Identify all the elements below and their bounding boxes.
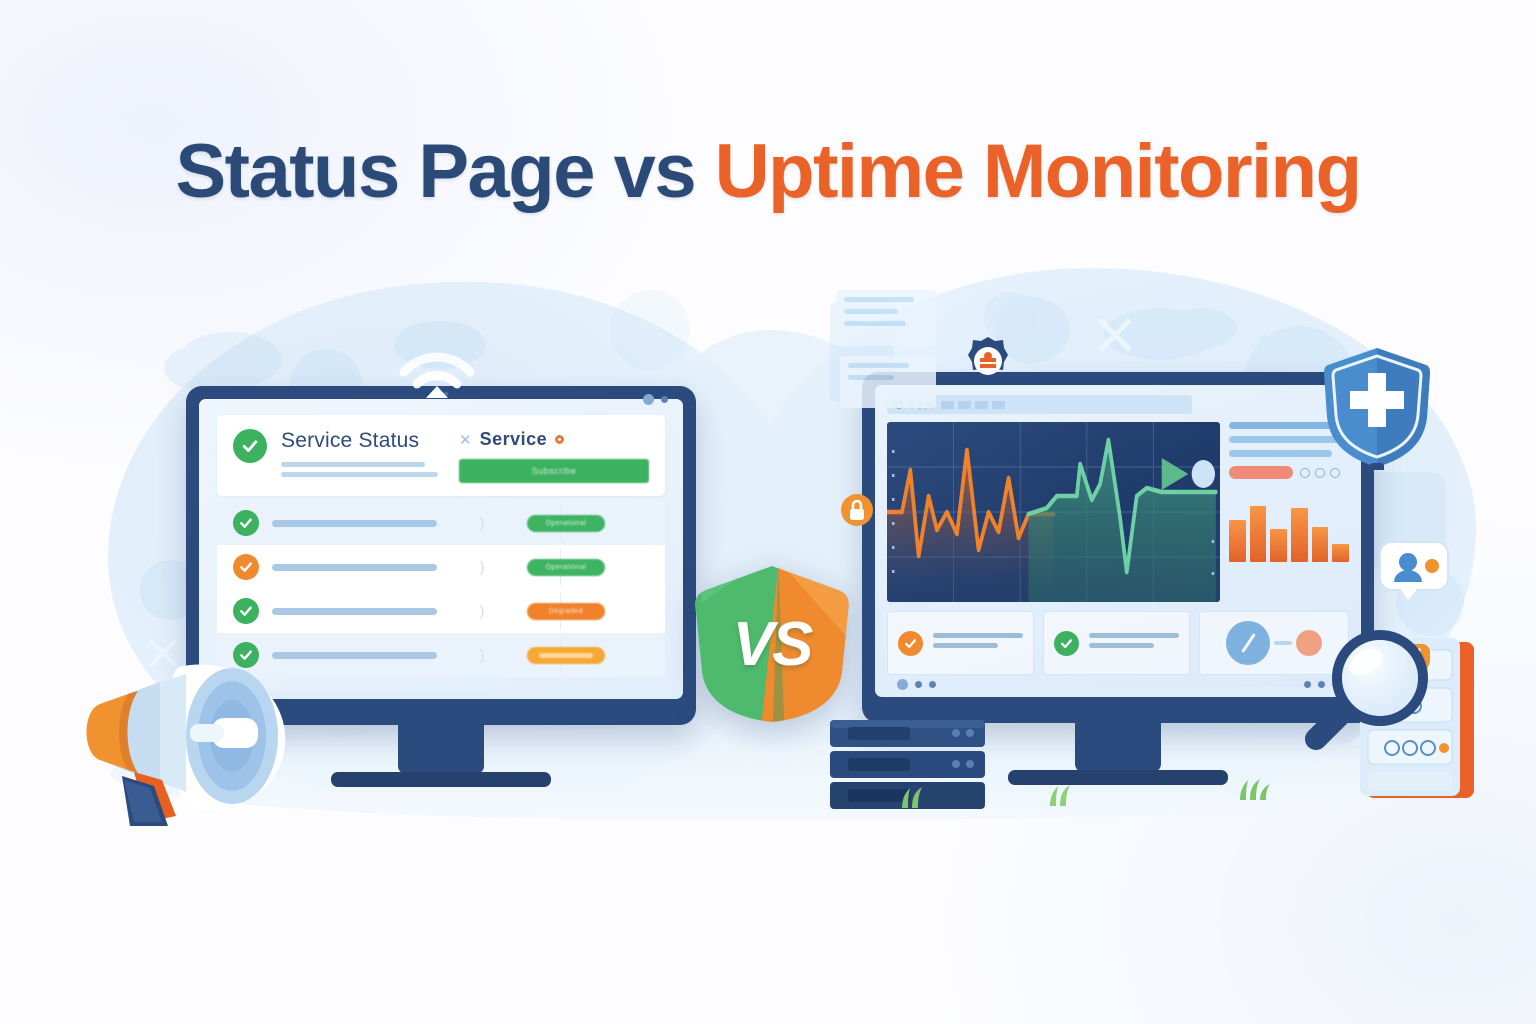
placeholder-line: [281, 472, 438, 477]
check-circle-icon: [233, 554, 259, 580]
response-time-chart: [887, 422, 1220, 602]
monitor-led-left-group: [897, 679, 936, 690]
table-row[interactable]: ) Operational: [217, 501, 665, 545]
monitor-stand-neck-left: [398, 712, 484, 774]
document-card: [840, 356, 936, 408]
shield-health-icon: [1322, 345, 1432, 470]
page-title-primary: Status Page vs: [175, 129, 714, 214]
status-card[interactable]: [1043, 611, 1190, 675]
placeholder-line: [1089, 633, 1179, 638]
row-metric: ): [450, 647, 514, 664]
vs-badge-label: VS: [688, 560, 856, 728]
status-page-brand-area: ✕ Service Subscribe: [459, 429, 649, 483]
check-circle-icon: [1054, 631, 1079, 656]
chart-svg: [887, 422, 1220, 602]
status-page-subtitle-lines: [281, 462, 445, 477]
dashboard-body: [887, 422, 1349, 602]
bar: [1250, 506, 1267, 562]
check-circle-icon: [898, 631, 923, 656]
bar: [1312, 527, 1329, 562]
subscribe-button[interactable]: Subscribe: [459, 459, 649, 483]
placeholder-line: [281, 462, 425, 467]
wifi-icon: [392, 336, 482, 402]
page-title-accent: Uptime Monitoring: [715, 129, 1361, 214]
brand-row: ✕ Service: [459, 429, 649, 450]
table-row[interactable]: ) Degraded: [217, 589, 665, 633]
row-metric: ): [450, 515, 514, 532]
table-row[interactable]: ) Operational: [217, 545, 665, 589]
brand-dot-icon: [555, 435, 564, 444]
monitor-indicator-left: [643, 394, 668, 405]
lock-chip-icon: [840, 492, 874, 528]
check-circle-icon: [233, 429, 267, 463]
gear-badge-icon: [962, 335, 1014, 387]
bar: [1332, 544, 1349, 562]
avatar-chip-icon: [1378, 540, 1450, 602]
play-marker-icon: [1162, 458, 1189, 490]
status-badge: Degraded: [527, 603, 605, 620]
row-label-placeholder: [272, 608, 437, 615]
grass-icon: [896, 786, 936, 808]
background-documents: [836, 290, 946, 420]
status-badge: Operational: [527, 515, 605, 532]
row-metric: ): [450, 559, 514, 576]
magnifier-icon: [1288, 612, 1448, 772]
monitor-stand-base-left: [331, 772, 551, 787]
monitor-stand-base-right: [1008, 770, 1228, 785]
alert-bar: [1229, 466, 1293, 479]
status-badge: [527, 647, 605, 664]
row-label-placeholder: [272, 520, 437, 527]
status-badge: Operational: [527, 559, 605, 576]
brand-name: Service: [480, 429, 548, 450]
placeholder-line: [933, 633, 1023, 638]
grass-icon: [1040, 784, 1080, 806]
check-circle-icon: [233, 598, 259, 624]
gauge-icon: [1226, 621, 1270, 665]
placeholder-line: [1089, 643, 1154, 648]
grass-icon: [1234, 778, 1274, 800]
megaphone-icon: [64, 630, 334, 830]
requests-bar-chart: [1229, 494, 1349, 562]
card-lines: [1089, 633, 1179, 653]
document-card: [836, 290, 936, 346]
check-circle-icon: [233, 510, 259, 536]
close-icon[interactable]: ✕: [459, 431, 472, 449]
status-page-header: Service Status ✕ Service: [217, 415, 665, 496]
row-metric: ): [450, 603, 514, 620]
vs-badge: VS: [688, 560, 856, 728]
bar: [1270, 529, 1287, 562]
status-page-header-main: Service Status: [281, 429, 445, 482]
url-placeholder-blocks: [941, 401, 1005, 409]
dashboard-status-cards: [887, 611, 1349, 675]
status-card[interactable]: [887, 611, 1034, 675]
illustration-stage: Status Page vs Uptime Monitoring: [0, 0, 1536, 1024]
dot-marker-icon: [1192, 460, 1215, 488]
page-title: Status Page vs Uptime Monitoring: [0, 128, 1536, 215]
panel-line: [1229, 450, 1332, 457]
bar: [1291, 508, 1308, 562]
placeholder-line: [933, 643, 998, 648]
row-label-placeholder: [272, 564, 437, 571]
card-lines: [933, 633, 1023, 653]
bar: [1229, 520, 1246, 562]
monitor-stand-neck-right: [1075, 710, 1161, 772]
status-page-title: Service Status: [281, 429, 445, 453]
